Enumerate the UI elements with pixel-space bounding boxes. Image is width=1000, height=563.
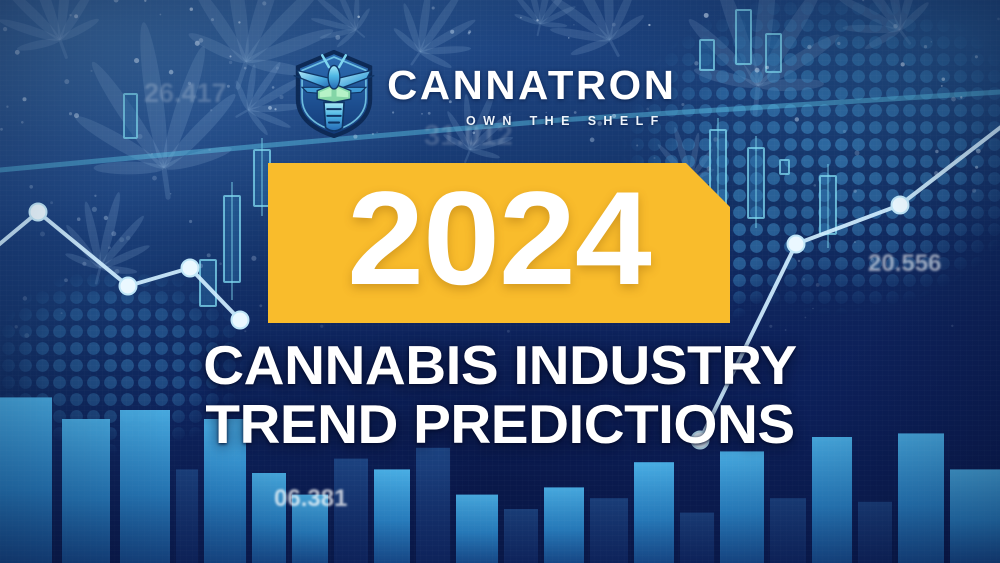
brand-tagline: OWN THE SHELF: [390, 114, 674, 128]
year-label: 2024: [347, 173, 651, 306]
background-number-3: 20.556: [868, 250, 941, 278]
cannatron-mascot-icon: [292, 50, 376, 138]
year-banner: 2024: [268, 163, 730, 323]
background-number-1: 26.417: [144, 78, 227, 109]
banner-canvas: 26.417 31.012 20.556 06.381: [0, 0, 1000, 563]
brand-logo[interactable]: CANNATRON OWN THE SHELF: [292, 46, 696, 142]
background-number-4: 06.381: [274, 485, 347, 513]
brand-wordmark: CANNATRON: [387, 65, 676, 106]
logo-text-block: CANNATRON OWN THE SHELF: [390, 61, 674, 128]
